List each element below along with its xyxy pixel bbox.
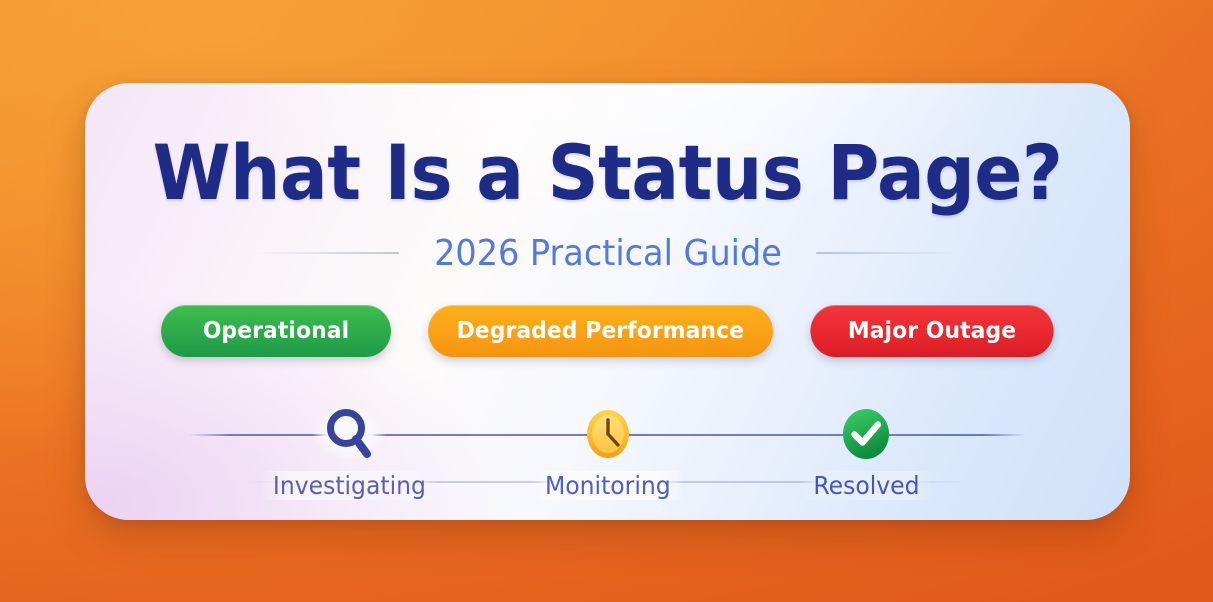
status-pill-operational[interactable]: Operational	[161, 305, 391, 357]
status-pill-group: Operational Degraded Performance Major O…	[85, 305, 1130, 357]
monitoring-icon-wrap	[571, 403, 645, 465]
resolved-icon-wrap	[828, 403, 904, 465]
page-title: What Is a Status Page?	[122, 135, 1094, 211]
check-circle-icon	[828, 407, 904, 461]
clock-icon	[571, 407, 645, 461]
timeline-label-resolved: Resolved	[800, 471, 932, 500]
incident-timeline: Investigating	[189, 385, 1026, 495]
status-pill-degraded-performance[interactable]: Degraded Performance	[428, 305, 772, 357]
page-subtitle: 2026 Practical Guide	[434, 233, 782, 274]
subtitle-row: 2026 Practical Guide	[85, 231, 1130, 275]
timeline-stages: Investigating	[189, 385, 1026, 495]
status-pill-major-outage[interactable]: Major Outage	[810, 305, 1053, 357]
subtitle-rule-left	[259, 252, 399, 254]
timeline-stage-resolved[interactable]: Resolved	[766, 385, 966, 500]
content-card: What Is a Status Page? 2026 Practical Gu…	[85, 83, 1130, 520]
timeline-stage-monitoring[interactable]: Monitoring	[508, 385, 708, 500]
subtitle-rule-right	[816, 252, 956, 254]
timeline-stage-investigating[interactable]: Investigating	[249, 385, 449, 500]
timeline-label-monitoring: Monitoring	[531, 471, 683, 500]
magnifier-icon	[312, 407, 386, 461]
status-page-poster: What Is a Status Page? 2026 Practical Gu…	[0, 0, 1213, 602]
timeline-label-investigating: Investigating	[259, 471, 438, 500]
investigating-icon-wrap	[312, 403, 386, 465]
card-content: What Is a Status Page? 2026 Practical Gu…	[85, 83, 1130, 520]
